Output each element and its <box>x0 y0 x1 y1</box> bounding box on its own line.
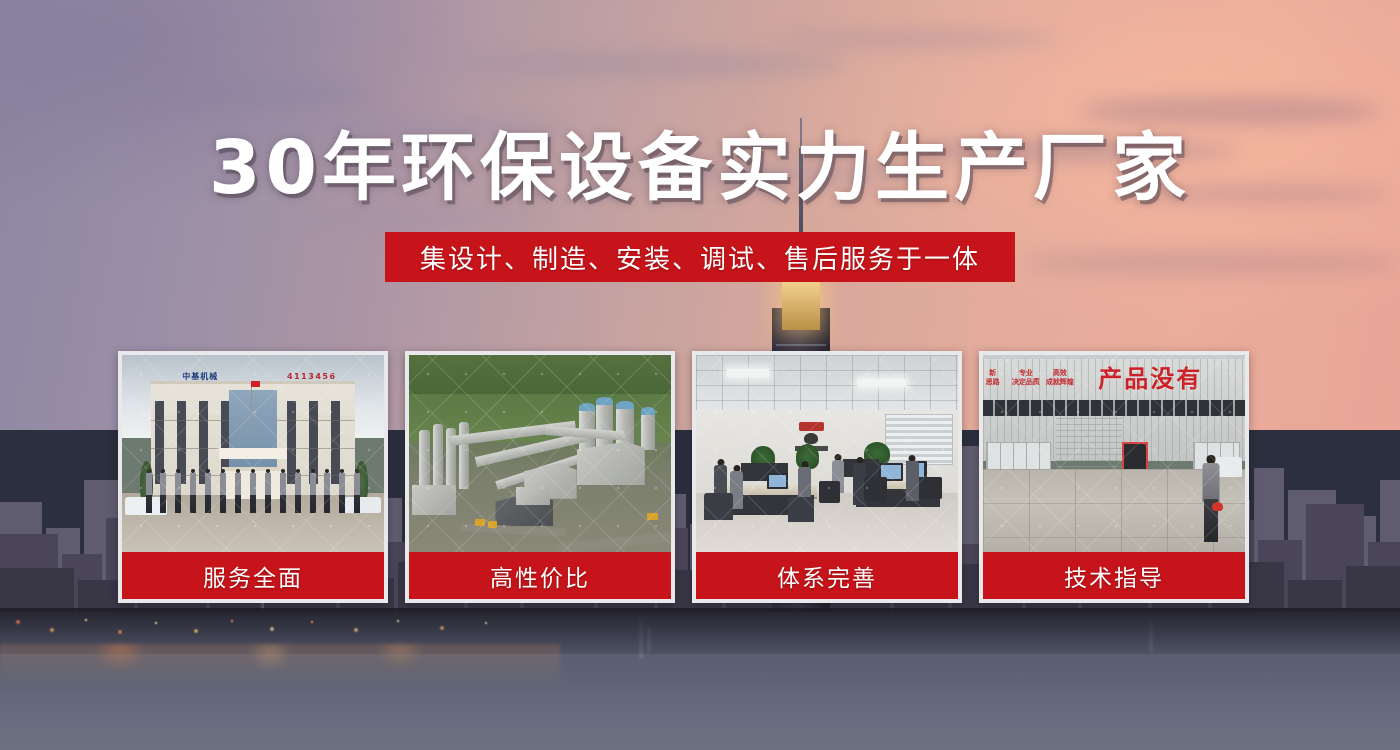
card-caption-text: 服务全面 <box>203 559 303 593</box>
card-caption-text: 技术指导 <box>1064 559 1164 593</box>
photo-workers-briefing: 产品没有 新思路 专业决定品质 高效成就辉煌 <box>983 355 1245 552</box>
water-reflections <box>0 644 560 690</box>
feature-card-system[interactable]: 体系完善 <box>692 351 962 603</box>
card-caption-training: 技术指导 <box>983 552 1245 599</box>
feature-card-service[interactable]: 中基机械 4113456 服务全面 <box>118 351 388 603</box>
card-caption-text: 高性价比 <box>490 559 590 593</box>
building-sign-text: 中基机械 <box>182 370 261 384</box>
window-blinds <box>885 414 953 465</box>
feature-card-training[interactable]: 产品没有 新思路 专业决定品质 高效成就辉煌 <box>979 351 1249 603</box>
subtitle-text: 集设计、制造、安装、调试、售后服务于一体 <box>420 239 980 276</box>
factory-slogan-1: 新思路 <box>986 369 1000 388</box>
factory-slogan-2: 专业决定品质 <box>1012 369 1040 388</box>
card-caption-text: 体系完善 <box>777 559 877 593</box>
page-title: 30年环保设备实力生产厂家 <box>0 131 1400 205</box>
card-caption-value: 高性价比 <box>409 552 671 599</box>
building-phone-number: 4113456 <box>287 370 371 384</box>
card-caption-service: 服务全面 <box>122 552 384 599</box>
photo-company-office-building: 中基机械 4113456 <box>122 355 384 552</box>
feature-card-value[interactable]: 高性价比 <box>405 351 675 603</box>
shore-lights <box>0 612 520 646</box>
feature-card-row: 中基机械 4113456 服务全面 <box>118 351 1282 603</box>
photo-office-interior <box>696 355 958 552</box>
subtitle-bar: 集设计、制造、安装、调试、售后服务于一体 <box>385 232 1015 282</box>
supervisor-figure <box>1201 455 1221 542</box>
staff-lineup <box>146 469 361 512</box>
promotional-banner: 30年环保设备实力生产厂家 集设计、制造、安装、调试、售后服务于一体 <box>0 0 1400 750</box>
card-caption-system: 体系完善 <box>696 552 958 599</box>
factory-slogan-3: 高效成就辉煌 <box>1046 369 1074 388</box>
photo-aerial-industrial-plant <box>409 355 671 552</box>
factory-wall-sign: 产品没有 <box>1098 361 1239 393</box>
